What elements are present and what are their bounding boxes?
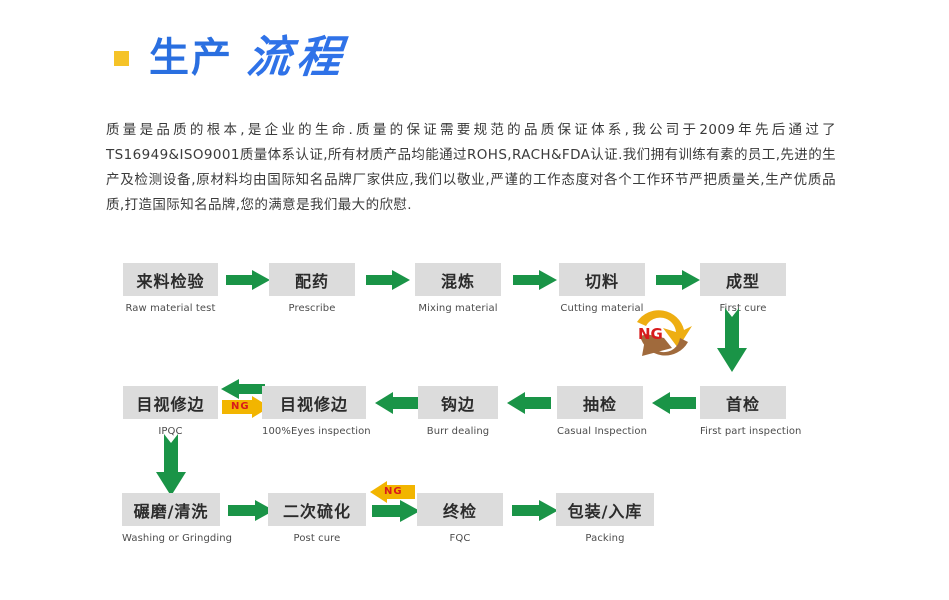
- arrow-left-icon: [650, 392, 696, 414]
- flow-node: 终检 FQC: [417, 493, 503, 544]
- arrow-right-icon: [372, 500, 420, 522]
- flow-node: 二次硫化 Post cure: [268, 493, 366, 544]
- flow-node-caption: Raw material test: [123, 303, 218, 314]
- flow-node-label: 来料检验: [123, 263, 218, 296]
- arrow-right-icon: [366, 270, 410, 290]
- flow-node: 首检 First part inspection: [700, 386, 786, 437]
- flow-node: 碾磨/清洗 Washing or Gringding: [122, 493, 220, 544]
- arrow-right-icon: [656, 270, 700, 290]
- arrow-right-icon: [513, 270, 557, 290]
- flow-node-label: 二次硫化: [268, 493, 366, 526]
- flow-node-label: 切料: [559, 263, 645, 296]
- flow-node-label: 成型: [700, 263, 786, 296]
- flow-node-caption: Prescribe: [269, 303, 355, 314]
- ng-rework-cycle-icon: [632, 304, 694, 360]
- flow-node: 混炼 Mixing material: [415, 263, 501, 314]
- flow-node-label: 碾磨/清洗: [122, 493, 220, 526]
- flow-node-caption: Casual Inspection: [557, 426, 643, 437]
- arrow-left-icon: [505, 392, 551, 414]
- flow-node-caption: Burr dealing: [418, 426, 498, 437]
- flow-node-caption: 100%Eyes inspection: [262, 426, 366, 437]
- flow-node-label: 首检: [700, 386, 786, 419]
- flow-node: 配药 Prescribe: [269, 263, 355, 314]
- flow-node: 钩边 Burr dealing: [418, 386, 498, 437]
- flow-node: 目视修边 100%Eyes inspection: [262, 386, 366, 437]
- flow-node-label: 配药: [269, 263, 355, 296]
- flow-node-label: 包装/入库: [556, 493, 654, 526]
- flow-node: 抽检 Casual Inspection: [557, 386, 643, 437]
- flow-node-label: 混炼: [415, 263, 501, 296]
- flow-node: 包装/入库 Packing: [556, 493, 654, 544]
- arrow-left-icon: [373, 392, 419, 414]
- arrow-down-icon: [717, 308, 747, 372]
- flow-node-caption: First part inspection: [700, 426, 786, 437]
- flow-node-caption: Packing: [556, 533, 654, 544]
- flow-node: 来料检验 Raw material test: [123, 263, 218, 314]
- flow-node-caption: Washing or Gringding: [122, 533, 220, 544]
- flow-node-caption: Mixing material: [415, 303, 501, 314]
- flow-node-label: 钩边: [418, 386, 498, 419]
- arrow-right-icon: [512, 500, 558, 521]
- flow-node-label: 终检: [417, 493, 503, 526]
- flow-node-label: 抽检: [557, 386, 643, 419]
- flow-node-caption: Post cure: [268, 533, 366, 544]
- flow-node: 目视修边 IPQC: [123, 386, 218, 437]
- flow-node-label: 目视修边: [262, 386, 366, 419]
- flow-node-label: 目视修边: [123, 386, 218, 419]
- arrow-right-icon: [226, 270, 270, 290]
- arrow-down-icon: [156, 434, 186, 496]
- process-flowchart: 来料检验 Raw material test 配药 Prescribe 混炼 M…: [0, 0, 949, 600]
- flow-node-caption: FQC: [417, 533, 503, 544]
- flow-node: 成型 First cure: [700, 263, 786, 314]
